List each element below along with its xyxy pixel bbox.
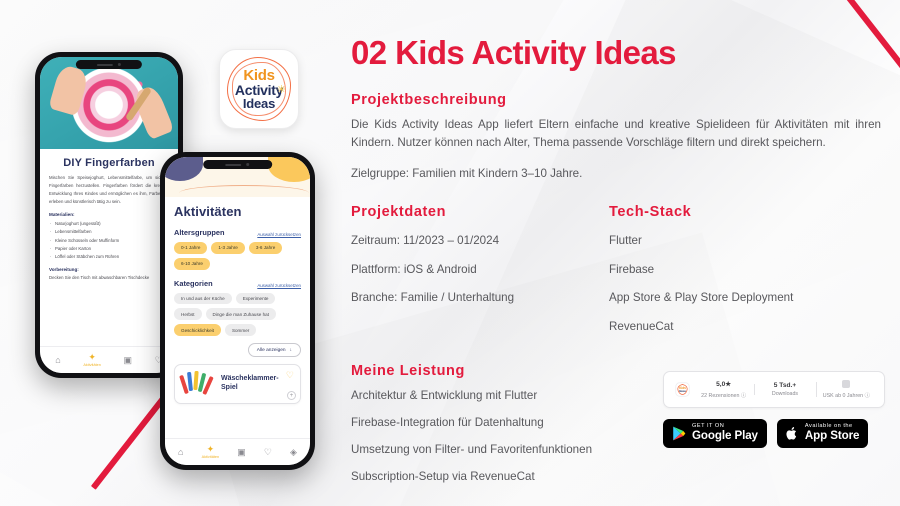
app-store-big: App Store <box>805 430 860 442</box>
phone-notch <box>76 60 142 69</box>
tech-stack-column: Tech-Stack Flutter Firebase App Store & … <box>609 204 879 341</box>
google-play-icon <box>672 426 686 441</box>
category-chip[interactable]: Experimente <box>236 293 276 305</box>
age-chip[interactable]: 3-6 Jahre <box>249 242 282 254</box>
activities-page-title: Aktivitäten <box>174 204 301 219</box>
home-icon: ⌂ <box>178 448 183 457</box>
store-badges: GET IT ON Google Play Available on the A… <box>663 419 885 448</box>
yellow-blob <box>268 157 310 182</box>
book-icon: ▣ <box>123 356 132 365</box>
material-item: Naturjoghurt (ungesüßt) <box>55 220 169 228</box>
apple-icon <box>786 426 799 441</box>
project-data-item: Plattform: iOS & Android <box>351 255 609 283</box>
app-icon-wordmark: Kids Activity Ideas <box>220 50 298 128</box>
category-section-header: Kategorien Auswahl zurücksetzen <box>174 279 301 288</box>
category-reset-link[interactable]: Auswahl zurücksetzen <box>257 283 301 288</box>
wave-line <box>179 185 309 197</box>
material-item: Kleine Schüsseln oder Muffinform <box>55 237 169 245</box>
downloads-segment: 5 Tsd.+ Downloads <box>754 382 815 398</box>
store-area: Kids Ideas 5,0★ 22 Rezensionen ⓘ 5 Tsd.+… <box>663 371 885 448</box>
description-paragraph: Die Kids Activity Ideas App liefert Elte… <box>351 116 881 154</box>
speaker-slot <box>226 164 242 166</box>
app-store-text: Available on the App Store <box>805 424 860 442</box>
age-section-header: Altersgruppen Auswahl zurücksetzen <box>174 228 301 237</box>
rating-label: 22 Rezensionen ⓘ <box>695 391 752 399</box>
age-section-title: Altersgruppen <box>174 228 225 237</box>
tab-library[interactable]: ▣ <box>123 356 132 365</box>
recipe-prep-text: Decken Sie den Tisch mit abwaschbaren Ti… <box>40 274 178 282</box>
puzzle-icon: ✦ <box>202 445 220 454</box>
phone-recipe-tabbar[interactable]: ⌂ ✦ Aktivitäten ▣ ♡ <box>40 346 178 373</box>
google-play-badge[interactable]: GET IT ON Google Play <box>663 419 767 448</box>
category-chip-group[interactable]: In und aus der Küche Experimente Herbst … <box>174 293 301 336</box>
book-icon: ▣ <box>237 448 246 457</box>
show-all-label: Alle anzeigen <box>257 348 286 353</box>
rating-value: 5,0★ <box>695 380 752 388</box>
age-chip-group[interactable]: 0-1 Jahre 1-3 Jahre 3-6 Jahre 6-10 Jahre <box>174 242 301 270</box>
tech-stack-item: App Store & Play Store Deployment <box>609 284 879 312</box>
tech-stack-heading: Tech-Stack <box>609 204 879 220</box>
tech-stack-item: Flutter <box>609 227 879 255</box>
facts-columns: Projektdaten Zeitraum: 11/2023 – 01/2024… <box>351 204 881 341</box>
project-data-item: Zeitraum: 11/2023 – 01/2024 <box>351 227 609 255</box>
tab-home[interactable]: ⌂ <box>178 448 183 457</box>
puzzle-icon: ✦ <box>83 353 101 362</box>
age-chip[interactable]: 0-1 Jahre <box>174 242 207 254</box>
chevron-down-icon: ↓ <box>290 348 292 353</box>
favorite-heart-icon[interactable]: ♡ <box>286 370 294 381</box>
app-thumbnail-icon: Kids Ideas <box>671 382 693 397</box>
phone-mockup-activities: Aktivitäten Altersgruppen Auswahl zurück… <box>160 152 315 470</box>
category-chip[interactable]: In und aus der Küche <box>174 293 232 305</box>
activity-card[interactable]: Wäscheklammer-Spiel ♡ + <box>174 364 301 404</box>
project-data-item: Branche: Familie / Unterhaltung <box>351 284 609 312</box>
rating-segment: 5,0★ 22 Rezensionen ⓘ <box>693 380 754 399</box>
recipe-paragraph: Mischen Sie Speisejoghurt, Lebensmittelf… <box>40 174 178 206</box>
page-title: 02 Kids Activity Ideas <box>351 36 881 71</box>
heart-icon: ♡ <box>264 448 272 457</box>
material-item: Lebensmittelfarben <box>55 228 169 236</box>
tab-activities-label: Aktivitäten <box>202 455 220 459</box>
speaker-slot <box>97 64 113 66</box>
google-play-text: GET IT ON Google Play <box>692 424 758 442</box>
slide-root: DIY Fingerfarben Mischen Sie Speisejoghu… <box>0 0 900 506</box>
phone-recipe-screen: DIY Fingerfarben Mischen Sie Speisejoghu… <box>40 57 178 373</box>
svg-text:Ideas: Ideas <box>679 389 686 393</box>
description-block: Projektbeschreibung Die Kids Activity Id… <box>351 92 881 184</box>
home-icon: ⌂ <box>55 356 60 365</box>
age-chip[interactable]: 6-10 Jahre <box>174 258 210 270</box>
sparkle-icon: ✳ <box>277 83 286 96</box>
category-section-title: Kategorien <box>174 279 213 288</box>
tab-library[interactable]: ▣ <box>237 448 246 457</box>
age-rating-label: USK ab 0 Jahren ⓘ <box>818 391 875 399</box>
tech-stack-item: Firebase <box>609 255 879 283</box>
camera-dot <box>247 163 250 166</box>
tab-favorites[interactable]: ♡ <box>264 448 272 457</box>
tab-activities[interactable]: ✦ Aktivitäten <box>202 445 220 460</box>
recipe-hero-image <box>40 57 178 149</box>
phone-activities-screen: Aktivitäten Altersgruppen Auswahl zurück… <box>165 157 310 465</box>
hand-shape <box>132 84 175 140</box>
app-store-badge[interactable]: Available on the App Store <box>777 419 869 448</box>
target-group-text: Zielgruppe: Familien mit Kindern 3–10 Ja… <box>351 165 881 184</box>
project-data-column: Projektdaten Zeitraum: 11/2023 – 01/2024… <box>351 204 609 341</box>
category-chip-selected[interactable]: Geschicklichkeit <box>174 324 221 336</box>
material-item: Löffel oder Stäbchen zum Rühren <box>55 253 169 261</box>
app-icon-tile: Kids Activity Ideas ✳ <box>219 49 299 129</box>
category-chip[interactable]: Dinge die man Zuhause hat <box>206 308 276 320</box>
diamond-icon: ◈ <box>290 448 297 457</box>
downloads-label: Downloads <box>756 391 813 397</box>
tab-activities[interactable]: ✦ Aktivitäten <box>83 353 101 368</box>
show-all-row: Alle anzeigen ↓ <box>174 343 301 357</box>
description-heading: Projektbeschreibung <box>351 92 881 108</box>
usk-rating-icon <box>842 380 850 388</box>
tab-activities-label: Aktivitäten <box>83 363 101 367</box>
contribution-item: Subscription-Setup via RevenueCat <box>351 463 881 490</box>
downloads-value: 5 Tsd.+ <box>756 382 813 389</box>
tab-premium[interactable]: ◈ <box>290 448 297 457</box>
recipe-materials-list: Naturjoghurt (ungesüßt) Lebensmittelfarb… <box>40 217 178 262</box>
category-chip[interactable]: Herbst <box>174 308 202 320</box>
age-rating-segment: USK ab 0 Jahren ⓘ <box>816 380 877 399</box>
recipe-prep-heading: Vorbereitung: <box>40 267 178 272</box>
category-chip[interactable]: Sommer <box>225 324 256 336</box>
age-reset-link[interactable]: Auswahl zurücksetzen <box>257 232 301 237</box>
age-chip[interactable]: 1-3 Jahre <box>211 242 244 254</box>
phone-notch <box>203 160 273 169</box>
activity-card-title: Wäscheklammer-Spiel <box>221 375 293 393</box>
phone-activities-tabbar[interactable]: ⌂ ✦ Aktivitäten ▣ ♡ ◈ <box>165 438 310 465</box>
recipe-title: DIY Fingerfarben <box>40 149 178 174</box>
hand-shape <box>48 64 90 116</box>
show-all-button[interactable]: Alle anzeigen ↓ <box>248 343 301 357</box>
project-data-heading: Projektdaten <box>351 204 609 220</box>
app-icon-line-1: Kids <box>243 68 274 83</box>
add-icon[interactable]: + <box>287 391 296 400</box>
google-play-big: Google Play <box>692 430 758 442</box>
project-data-list: Zeitraum: 11/2023 – 01/2024 Plattform: i… <box>351 227 609 312</box>
camera-dot <box>118 63 121 66</box>
clothespin-illustration <box>182 371 214 397</box>
tech-stack-item: RevenueCat <box>609 312 879 340</box>
purple-blob <box>165 157 203 181</box>
app-icon-line-3: Ideas <box>243 97 275 110</box>
tech-stack-list: Flutter Firebase App Store & Play Store … <box>609 227 879 341</box>
material-item: Papier oder Karton <box>55 245 169 253</box>
store-rating-card: Kids Ideas 5,0★ 22 Rezensionen ⓘ 5 Tsd.+… <box>663 371 885 408</box>
activities-body: Aktivitäten Altersgruppen Auswahl zurück… <box>165 197 310 404</box>
tab-home[interactable]: ⌂ <box>55 356 60 365</box>
